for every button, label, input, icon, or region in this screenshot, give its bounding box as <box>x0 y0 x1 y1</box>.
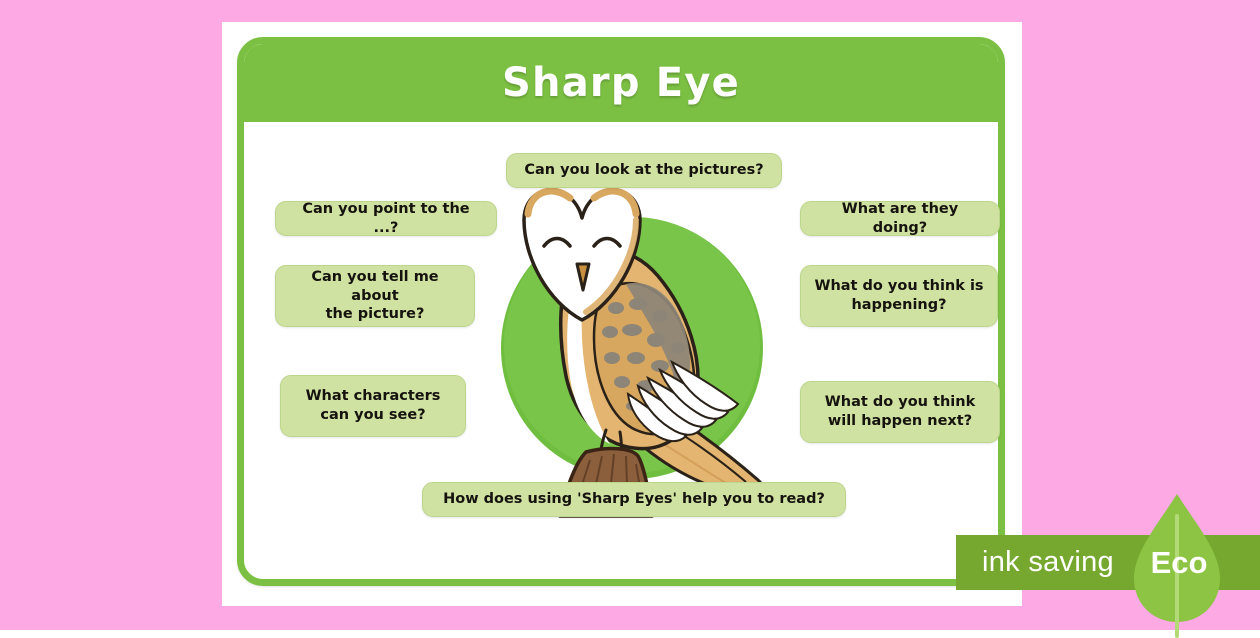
poster-canvas: Sharp Eye <box>0 0 1260 630</box>
prompt-text: Can you tell me about the picture? <box>288 268 462 324</box>
prompt-what-are-they-doing[interactable]: What are they doing? <box>800 201 1000 236</box>
prompt-how-does-sharp-eyes-help[interactable]: How does using 'Sharp Eyes' help you to … <box>422 482 846 517</box>
prompt-what-characters[interactable]: What characters can you see? <box>280 375 466 437</box>
poster-body: Can you look at the pictures? Can you po… <box>244 122 998 579</box>
eco-label: Eco <box>1137 535 1221 590</box>
barn-owl-illustration <box>482 180 782 520</box>
prompt-text: What do you think is happening? <box>814 277 983 314</box>
ink-saving-label: ink saving <box>982 535 1114 590</box>
prompt-text: What are they doing? <box>813 200 987 237</box>
prompt-text: How does using 'Sharp Eyes' help you to … <box>443 490 825 509</box>
prompt-text: Can you look at the pictures? <box>524 161 763 180</box>
poster-header: Sharp Eye <box>244 44 998 122</box>
prompt-text: Can you point to the ...? <box>288 200 484 237</box>
eco-badge: ink saving Eco <box>956 535 1260 590</box>
poster-card: Sharp Eye <box>237 37 1005 586</box>
prompt-look-at-pictures[interactable]: Can you look at the pictures? <box>506 153 782 188</box>
prompt-what-is-happening[interactable]: What do you think is happening? <box>800 265 998 327</box>
prompt-text: What characters can you see? <box>306 387 441 424</box>
page-title: Sharp Eye <box>502 60 740 106</box>
prompt-point-to-the[interactable]: Can you point to the ...? <box>275 201 497 236</box>
prompt-what-will-happen-next[interactable]: What do you think will happen next? <box>800 381 1000 443</box>
prompt-tell-me-about-picture[interactable]: Can you tell me about the picture? <box>275 265 475 327</box>
prompt-text: What do you think will happen next? <box>825 393 975 430</box>
